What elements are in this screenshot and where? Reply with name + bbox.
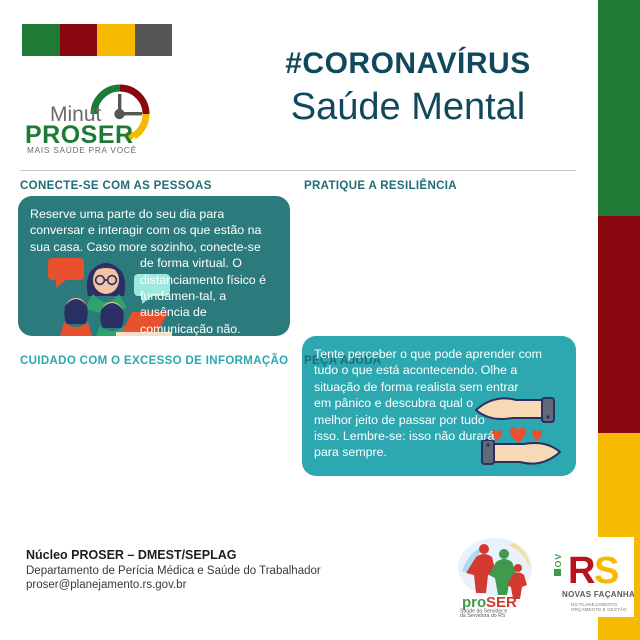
svg-text:da Servidora do RS: da Servidora do RS: [460, 613, 506, 617]
header-divider: [20, 170, 576, 171]
card-text-line-a: Tente perceber o que pode aprender com t…: [314, 347, 542, 394]
edge-stripe-red: [598, 216, 640, 433]
svg-text:S: S: [594, 550, 619, 592]
section-heading-excesso-info-wrap: CUIDADO COM O EXCESSO DE INFORMAÇÃO: [18, 355, 288, 373]
card-resiliencia: Tente perceber o que pode aprender com t…: [302, 336, 576, 476]
flag-bar-red: [60, 24, 98, 56]
infographic-poster: Minut PROSER MAIS SAÚDE PRA VOCÊ #CORONA…: [0, 0, 640, 640]
section-heading-resiliencia: PRATIQUE A RESILIÊNCIA: [304, 180, 457, 192]
card-body-conecte-se-part1: Reserve uma parte do seu dia para conver…: [18, 196, 290, 336]
card-conecte-se: Reserve uma parte do seu dia para conver…: [18, 196, 290, 336]
footer-org-name: Núcleo PROSER – DMEST/SEPLAG: [26, 548, 356, 562]
card-body-resiliencia-part1: Tente perceber o que pode aprender com t…: [302, 336, 576, 461]
section-heading-conecte-se: CONECTE-SE COM AS PESSOAS: [20, 180, 212, 192]
page-title: Saúde Mental: [232, 88, 584, 128]
header-flag-bars: [22, 24, 172, 56]
minuto-proser-logo: Minut PROSER MAIS SAÚDE PRA VOCÊ: [22, 70, 192, 156]
flag-bar-green: [22, 24, 60, 56]
svg-text:ORÇAMENTO E GESTÃO: ORÇAMENTO E GESTÃO: [571, 607, 627, 612]
proser-logo: pro SER Saúde do Servidor e da Servidora…: [452, 535, 538, 617]
card-text-line-b: em pânico e descubra qual o melhor jeito…: [314, 395, 504, 461]
svg-text:PROSER: PROSER: [25, 121, 134, 149]
flag-bar-yellow: [97, 24, 135, 56]
gov-rs-logo: GOV R S NOVAS FAÇANHAS NO PLANEJAMENTO, …: [548, 537, 634, 617]
card-text-line-b: de forma virtual. O distanciamento físic…: [140, 255, 278, 336]
footer-email[interactable]: proser@planejamento.rs.gov.br: [26, 579, 356, 591]
section-heading-excesso-info: CUIDADO COM O EXCESSO DE INFORMAÇÃO: [20, 355, 288, 367]
flag-bar-gray: [135, 24, 173, 56]
edge-stripe-green: [598, 0, 640, 216]
section-heading-resiliencia-wrap: PRATIQUE A RESILIÊNCIA: [302, 180, 457, 198]
footer-logos: pro SER Saúde do Servidor e da Servidora…: [452, 535, 622, 621]
header-title-block: #CORONAVÍRUS Saúde Mental: [232, 48, 584, 127]
svg-text:MAIS SAÚDE PRA VOCÊ: MAIS SAÚDE PRA VOCÊ: [27, 145, 137, 155]
footer-contact: Núcleo PROSER – DMEST/SEPLAG Departament…: [26, 548, 356, 591]
svg-text:NOVAS FAÇANHAS: NOVAS FAÇANHAS: [562, 590, 634, 599]
card-text-line-a: Reserve uma parte do seu dia para conver…: [30, 207, 261, 254]
svg-text:GOV: GOV: [553, 553, 563, 575]
footer-department: Departamento de Perícia Médica e Saúde d…: [26, 565, 356, 577]
svg-text:R: R: [568, 550, 595, 592]
hashtag-title: #CORONAVÍRUS: [232, 48, 584, 80]
